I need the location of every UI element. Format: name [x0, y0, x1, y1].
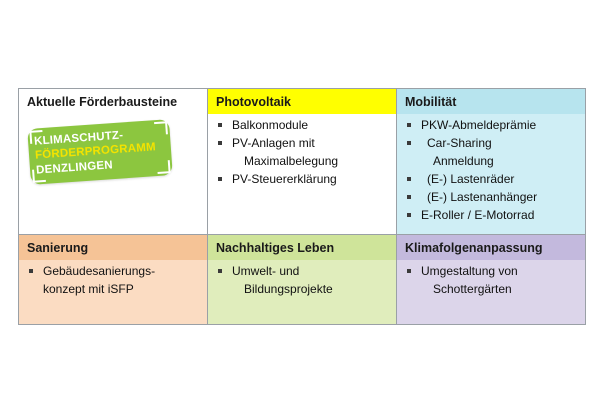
diagram-canvas: Aktuelle Förderbausteine KLIMASCHUTZ- FÖ… [0, 0, 600, 400]
list-item-continuation: Maximalbelegung [214, 154, 390, 171]
table-row-top: Aktuelle Förderbausteine KLIMASCHUTZ- FÖ… [19, 89, 586, 235]
list-item-label: Schottergärten [433, 282, 512, 296]
list-item: PV-Steuererklärung [214, 172, 390, 189]
list-item: PV-Anlagen mit [214, 136, 390, 153]
title-logo-cell: Aktuelle Förderbausteine KLIMASCHUTZ- FÖ… [19, 89, 208, 235]
item-list-photovoltaik: Balkonmodule PV-Anlagen mit Maximalbeleg… [214, 118, 390, 189]
item-list-nachhaltiges-leben: Umwelt- und Bildungsprojekte [214, 264, 390, 299]
list-item-label: Car-Sharing [427, 136, 492, 150]
foerderbausteine-table: Aktuelle Förderbausteine KLIMASCHUTZ- FÖ… [18, 88, 586, 325]
item-list-klimafolgenanpassung: Umgestaltung von Schottergärten [403, 264, 579, 299]
list-item-label: Bildungsprojekte [244, 282, 333, 296]
list-item-label: PV-Anlagen mit [232, 136, 315, 150]
list-item: Car-Sharing [403, 136, 579, 153]
list-item-label: Umwelt- und [232, 264, 299, 278]
column-body-sanierung: Gebäudesanierungs- konzept mit iSFP [19, 260, 207, 324]
list-item-label: PV-Steuererklärung [232, 172, 337, 186]
list-item: (E-) Lastenräder [403, 172, 579, 189]
column-body-photovoltaik: Balkonmodule PV-Anlagen mit Maximalbeleg… [208, 114, 396, 198]
list-item-label: Maximalbelegung [244, 154, 338, 168]
column-header-mobilitaet: Mobilität [397, 89, 585, 114]
item-list-mobilitaet: PKW-Abmeldeprämie Car-Sharing Anmeldung … [403, 118, 579, 225]
list-item-label: Umgestaltung von [421, 264, 518, 278]
list-item-continuation: Schottergärten [403, 282, 579, 299]
square-bullet-icon [407, 123, 411, 127]
column-sanierung: Sanierung Gebäudesanierungs- konzept mit… [19, 235, 208, 325]
column-klimafolgenanpassung: Klimafolgenanpassung Umgestaltung von Sc… [397, 235, 586, 325]
column-body-mobilitaet: PKW-Abmeldeprämie Car-Sharing Anmeldung … [397, 114, 585, 234]
list-item-label: (E-) Lastenanhänger [427, 190, 537, 204]
column-header-photovoltaik: Photovoltaik [208, 89, 396, 114]
square-bullet-icon [407, 213, 411, 217]
table-row-bottom: Sanierung Gebäudesanierungs- konzept mit… [19, 235, 586, 325]
list-item-continuation: Anmeldung [403, 154, 579, 171]
column-mobilitaet: Mobilität PKW-Abmeldeprämie Car-Sharing … [397, 89, 586, 235]
list-item: Gebäudesanierungs- [25, 264, 201, 281]
square-bullet-icon [218, 269, 222, 273]
list-item: Umwelt- und [214, 264, 390, 281]
list-item-label: Balkonmodule [232, 118, 308, 132]
list-item-label: E-Roller / E-Motorrad [421, 208, 534, 222]
square-bullet-icon [218, 141, 222, 145]
list-item: PKW-Abmeldeprämie [403, 118, 579, 135]
square-bullet-icon [407, 141, 411, 145]
square-bullet-icon [407, 195, 411, 199]
list-item-label: Anmeldung [433, 154, 494, 168]
column-header-nachhaltiges-leben: Nachhaltiges Leben [208, 235, 396, 260]
list-item-continuation: Bildungsprojekte [214, 282, 390, 299]
item-list-sanierung: Gebäudesanierungs- konzept mit iSFP [25, 264, 201, 299]
list-item-label: PKW-Abmeldeprämie [421, 118, 536, 132]
column-header-sanierung: Sanierung [19, 235, 207, 260]
square-bullet-icon [218, 123, 222, 127]
square-bullet-icon [407, 269, 411, 273]
list-item: (E-) Lastenanhänger [403, 190, 579, 207]
page-title: Aktuelle Förderbausteine [19, 89, 207, 114]
list-item: Umgestaltung von [403, 264, 579, 281]
square-bullet-icon [29, 269, 33, 273]
square-bullet-icon [407, 177, 411, 181]
square-bullet-icon [218, 177, 222, 181]
column-photovoltaik: Photovoltaik Balkonmodule PV-Anlagen mit… [208, 89, 397, 235]
klimaschutz-foerderprogramm-denzlingen-logo: KLIMASCHUTZ- FÖRDERPROGRAMM DENZLINGEN [25, 120, 175, 184]
column-body-klimafolgenanpassung: Umgestaltung von Schottergärten [397, 260, 585, 324]
column-nachhaltiges-leben: Nachhaltiges Leben Umwelt- und Bildungsp… [208, 235, 397, 325]
list-item-label: konzept mit iSFP [43, 282, 134, 296]
list-item-label: Gebäudesanierungs- [43, 264, 155, 278]
column-body-nachhaltiges-leben: Umwelt- und Bildungsprojekte [208, 260, 396, 324]
column-header-klimafolgenanpassung: Klimafolgenanpassung [397, 235, 585, 260]
list-item: E-Roller / E-Motorrad [403, 208, 579, 225]
list-item-continuation: konzept mit iSFP [25, 282, 201, 299]
list-item: Balkonmodule [214, 118, 390, 135]
list-item-label: (E-) Lastenräder [427, 172, 514, 186]
